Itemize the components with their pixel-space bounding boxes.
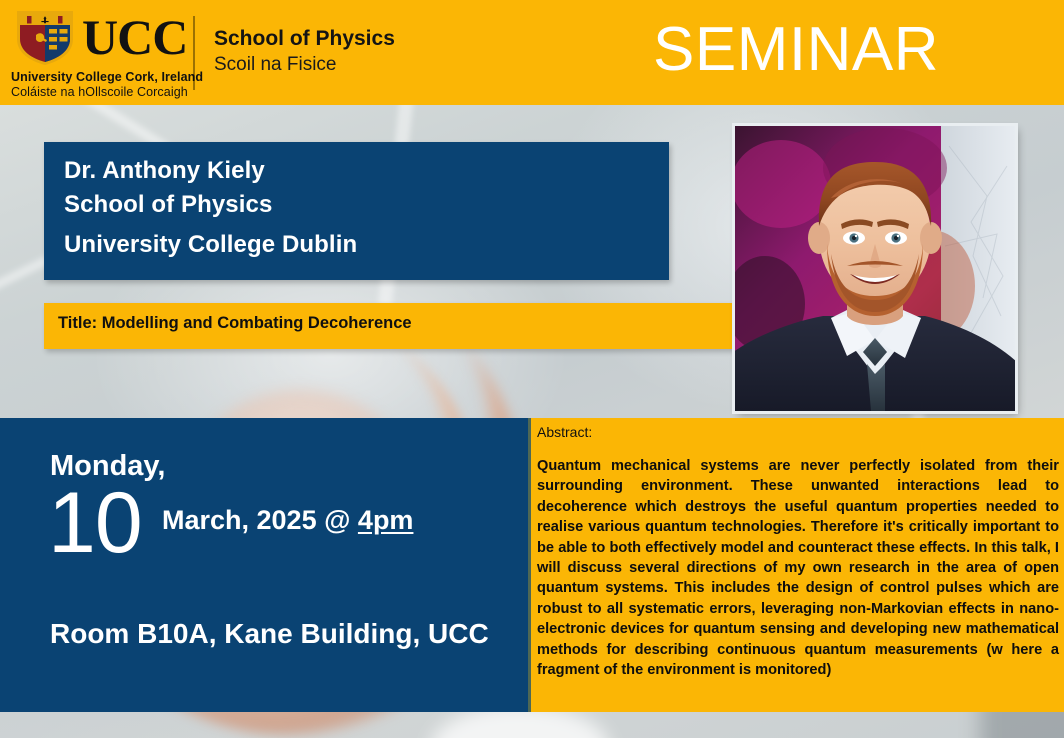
event-day-number: 10 [48,480,142,566]
department-name-ga: Scoil na Fisice [214,54,337,76]
abstract-body: Quantum mechanical systems are never per… [537,456,1059,680]
ucc-wordmark: UCC [82,12,187,62]
abstract-label: Abstract: [537,424,592,440]
event-location: Room B10A, Kane Building, UCC [50,618,489,650]
department-name-en: School of Physics [214,27,395,51]
abstract-panel-edge [528,418,531,712]
talk-title-banner: Title: Modelling and Combating Decoheren… [44,303,736,349]
speaker-name: Dr. Anthony Kiely [64,157,265,185]
event-month-time: March, 2025 @ 4pm [162,505,413,536]
speaker-school: School of Physics [64,191,272,219]
event-time: 4pm [358,505,414,535]
event-month-year: March, 2025 @ [162,505,358,535]
speaker-info-box: Dr. Anthony Kiely School of Physics Univ… [44,142,669,280]
header-divider [193,16,195,90]
seminar-banner-title: SEMINAR [616,11,976,89]
speaker-portrait-photo [735,126,1015,411]
speaker-institution: University College Dublin [64,231,357,259]
ucc-name-en: University College Cork, Ireland [11,70,203,84]
ucc-name-ga: Coláiste na hOllscoile Corcaigh [11,85,188,99]
poster-header: UCC University College Cork, Ireland Col… [0,0,1064,105]
ucc-crest-icon [14,9,76,67]
event-details-panel: Monday, 10 March, 2025 @ 4pm Room B10A, … [0,418,528,712]
seminar-poster: UCC University College Cork, Ireland Col… [0,0,1064,738]
talk-title-text: Title: Modelling and Combating Decoheren… [58,314,412,333]
abstract-panel: Abstract: Quantum mechanical systems are… [528,418,1064,712]
